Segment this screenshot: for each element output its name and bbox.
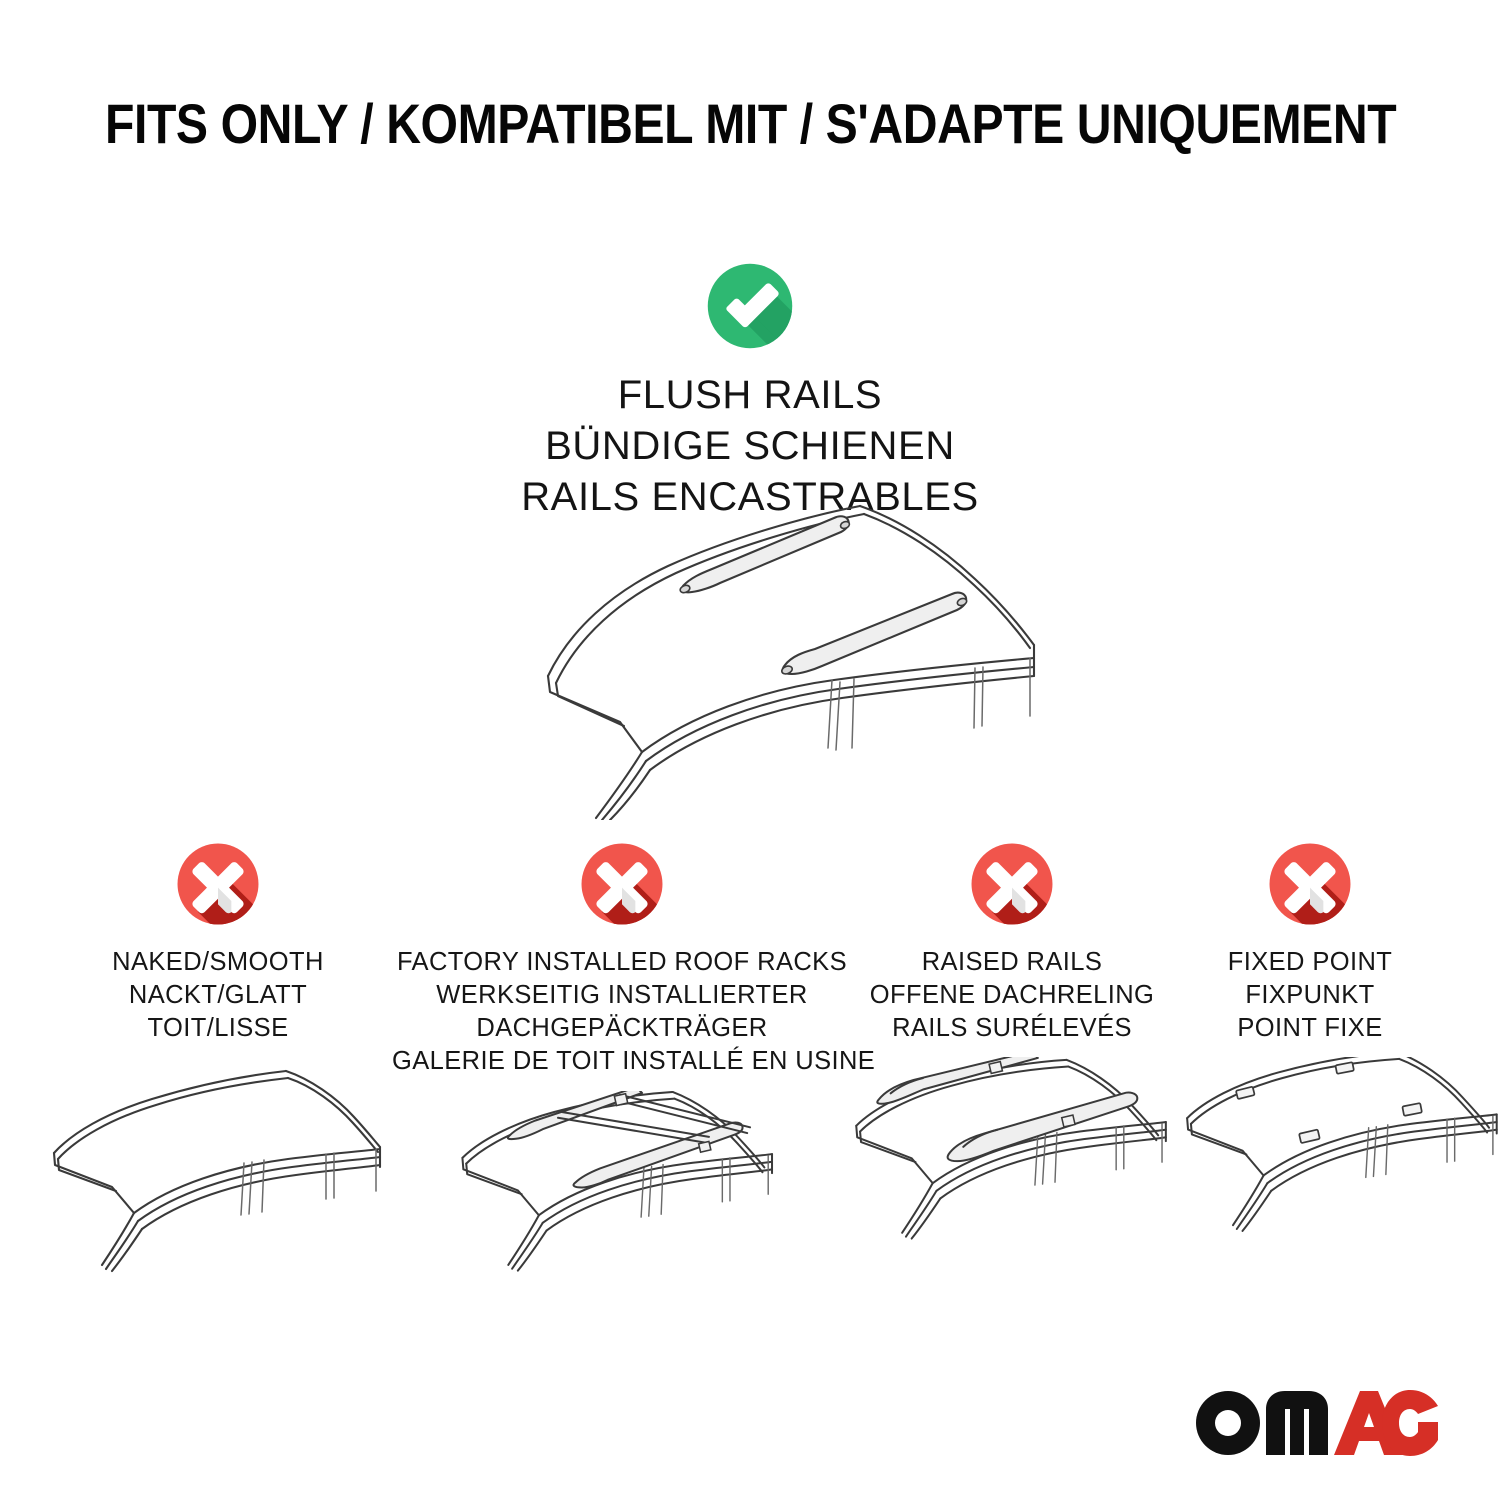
cross-circle-icon bbox=[1264, 838, 1356, 930]
approved-label-en: FLUSH RAILS bbox=[0, 370, 1500, 421]
label-fr: RAILS SURÉLEVÉS bbox=[832, 1012, 1192, 1045]
label-fr: GALERIE DE TOIT INSTALLÉ EN USINE bbox=[392, 1045, 852, 1078]
car-roof-raised-rails-illustration bbox=[832, 1057, 1192, 1287]
label-en: RAISED RAILS bbox=[832, 946, 1192, 979]
rejected-labels-fixed-point: FIXED POINT FIXPUNKT POINT FIXE bbox=[1170, 946, 1450, 1045]
badge-wrap bbox=[1170, 838, 1450, 946]
label-fr: POINT FIXE bbox=[1170, 1012, 1450, 1045]
rejected-item-raised-rails: RAISED RAILS OFFENE DACHRELING RAILS SUR… bbox=[832, 838, 1192, 1287]
approved-label-de: BÜNDIGE SCHIENEN bbox=[0, 421, 1500, 472]
rejected-item-naked-smooth: NAKED/SMOOTH NACKT/GLATT TOIT/LISSE bbox=[48, 838, 388, 1287]
label-en: NAKED/SMOOTH bbox=[48, 946, 388, 979]
label-de-1: WERKSEITIG INSTALLIERTER bbox=[392, 979, 852, 1012]
rejected-section: NAKED/SMOOTH NACKT/GLATT TOIT/LISSE bbox=[0, 838, 1500, 1308]
rejected-item-fixed-point: FIXED POINT FIXPUNKT POINT FIXE bbox=[1170, 838, 1450, 1287]
cross-circle-icon bbox=[576, 838, 668, 930]
cross-circle-icon bbox=[966, 838, 1058, 930]
label-de: NACKT/GLATT bbox=[48, 979, 388, 1012]
label-de: OFFENE DACHRELING bbox=[832, 979, 1192, 1012]
rejected-labels-raised-rails: RAISED RAILS OFFENE DACHRELING RAILS SUR… bbox=[832, 946, 1192, 1045]
badge-wrap bbox=[832, 838, 1192, 946]
rejected-labels-factory-roof-racks: FACTORY INSTALLED ROOF RACKS WERKSEITIG … bbox=[392, 946, 852, 1079]
check-circle-icon bbox=[702, 258, 798, 354]
label-de-2: DACHGEPÄCKTRÄGER bbox=[392, 1012, 852, 1045]
car-roof-with-flush-rails-illustration bbox=[430, 480, 1070, 820]
cross-circle-icon bbox=[172, 838, 264, 930]
header: FITS ONLY / KOMPATIBEL MIT / S'ADAPTE UN… bbox=[0, 96, 1500, 152]
label-de: FIXPUNKT bbox=[1170, 979, 1450, 1012]
badge-wrap bbox=[48, 838, 388, 946]
label-en: FIXED POINT bbox=[1170, 946, 1450, 979]
label-en: FACTORY INSTALLED ROOF RACKS bbox=[392, 946, 852, 979]
omac-logo bbox=[1192, 1384, 1442, 1458]
rejected-item-factory-roof-racks: FACTORY INSTALLED ROOF RACKS WERKSEITIG … bbox=[392, 838, 852, 1321]
label-fr: TOIT/LISSE bbox=[48, 1012, 388, 1045]
rejected-labels-naked-smooth: NAKED/SMOOTH NACKT/GLATT TOIT/LISSE bbox=[48, 946, 388, 1045]
page-title: FITS ONLY / KOMPATIBEL MIT / S'ADAPTE UN… bbox=[105, 96, 1395, 152]
badge-wrap bbox=[392, 838, 852, 946]
car-roof-factory-roof-racks-illustration bbox=[392, 1091, 852, 1321]
car-roof-fixed-point-illustration bbox=[1170, 1057, 1450, 1287]
car-roof-naked-smooth-illustration bbox=[48, 1057, 388, 1287]
